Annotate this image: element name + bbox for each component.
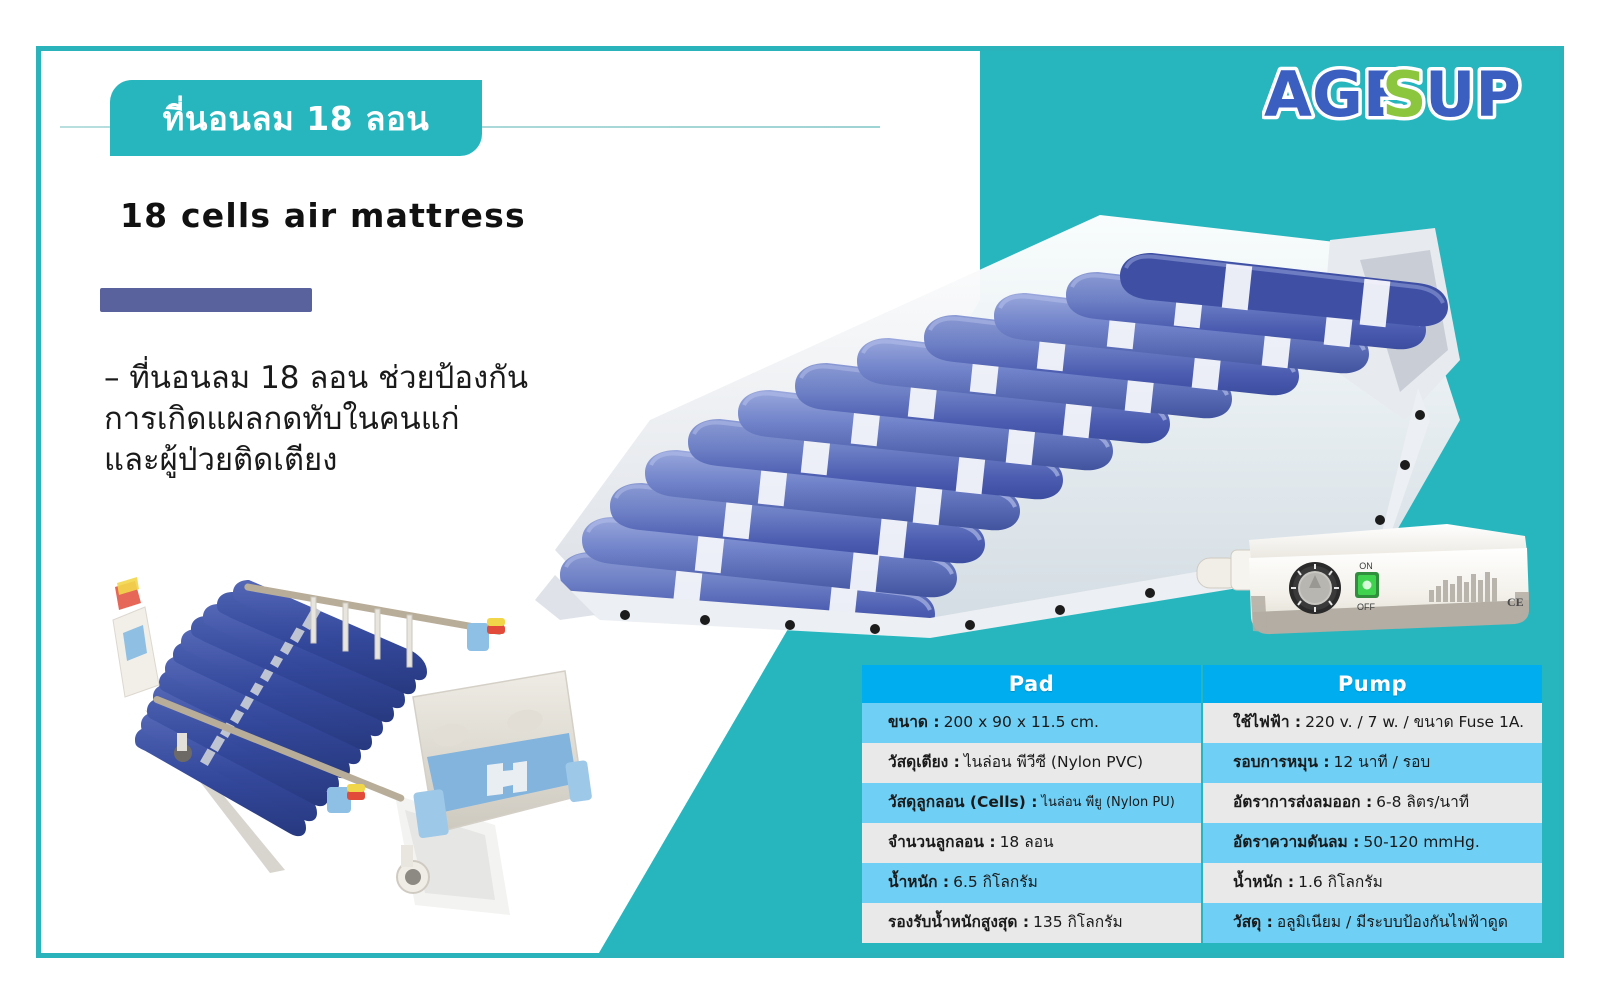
page-title-badge: ที่นอนลม 18 ลอน [110,80,482,156]
spec-column-pad: Pad ขนาด : 200 x 90 x 11.5 cm. วัสดุเตีย… [862,665,1201,943]
spec-label: อัตราความดันลม : [1233,834,1359,852]
poster-canvas: ON OFF CE [0,0,1600,1000]
spec-label: วัสดุ : [1233,914,1273,932]
spec-label: น้ำหนัก : [888,874,949,892]
spec-value: ไนล่อน พีวีซี (Nylon PVC) [964,754,1143,772]
spec-value: 1.6 กิโลกรัม [1298,874,1383,892]
pump-off-label: OFF [1357,602,1375,612]
description-line-2: การเกิดแผลกดทับในคนแก่ [104,399,644,440]
spec-column-pump: Pump ใช้ไฟฟ้า : 220 v. / 7 w. / ขนาด Fus… [1203,665,1542,943]
pump-on-label: ON [1359,561,1373,571]
spec-label: ขนาด : [888,714,940,732]
page-subtitle: 18 cells air mattress [120,196,526,235]
spec-value: ไนล่อน พียู (Nylon PU) [1041,796,1174,811]
spec-value: 12 นาที / รอบ [1334,754,1431,772]
spec-label: จำนวนลูกลอน : [888,834,996,852]
table-row: วัสดุลูกลอน (Cells) : ไนล่อน พียู (Nylon… [862,783,1201,823]
brand-logo: AGE AGE S S UP UP [1262,58,1562,136]
hospital-bed-image [95,525,605,935]
description-line-1: – ที่นอนลม 18 ลอน ช่วยป้องกัน [104,358,644,399]
table-row: น้ำหนัก : 6.5 กิโลกรัม [862,863,1201,903]
spec-label: รองรับน้ำหนักสูงสุด : [888,914,1029,932]
spec-header-pump: Pump [1203,665,1542,703]
spec-value: 6-8 ลิตร/นาที [1376,794,1469,812]
spec-value: 6.5 กิโลกรัม [953,874,1038,892]
accent-bar [100,288,312,312]
table-row: อัตราความดันลม : 50-120 mmHg. [1203,823,1542,863]
spec-label: วัสดุลูกลอน (Cells) : [888,794,1037,812]
table-row: รอบการหมุน : 12 นาที / รอบ [1203,743,1542,783]
table-row: รองรับน้ำหนักสูงสุด : 135 กิโลกรัม [862,903,1201,943]
air-pump-device-image: ON OFF CE [1185,500,1545,640]
spec-value: 135 กิโลกรัม [1033,914,1123,932]
spec-label: ใช้ไฟฟ้า : [1233,714,1301,732]
page-title-text: ที่นอนลม 18 ลอน [163,92,430,145]
spec-value: 50-120 mmHg. [1363,834,1479,852]
product-description: – ที่นอนลม 18 ลอน ช่วยป้องกัน การเกิดแผล… [104,358,644,481]
table-row: ใช้ไฟฟ้า : 220 v. / 7 w. / ขนาด Fuse 1A. [1203,703,1542,743]
spec-label: น้ำหนัก : [1233,874,1294,892]
spec-label: อัตราการส่งลมออก : [1233,794,1372,812]
spec-value: 18 ลอน [1000,834,1054,852]
specifications-table: Pad ขนาด : 200 x 90 x 11.5 cm. วัสดุเตีย… [862,665,1542,943]
spec-value: 200 x 90 x 11.5 cm. [944,714,1099,732]
ce-mark-label: CE [1507,595,1524,609]
table-row: อัตราการส่งลมออก : 6-8 ลิตร/นาที [1203,783,1542,823]
table-row: จำนวนลูกลอน : 18 ลอน [862,823,1201,863]
spec-value: อลูมิเนียม / มีระบบป้องกันไฟฟ้าดูด [1277,914,1508,932]
table-row: น้ำหนัก : 1.6 กิโลกรัม [1203,863,1542,903]
table-row: วัสดุเตียง : ไนล่อน พีวีซี (Nylon PVC) [862,743,1201,783]
spec-label: รอบการหมุน : [1233,754,1330,772]
spec-label: วัสดุเตียง : [888,754,960,772]
spec-value: 220 v. / 7 w. / ขนาด Fuse 1A. [1305,714,1524,732]
logo-text-s: S [1382,58,1427,131]
table-row: วัสดุ : อลูมิเนียม / มีระบบป้องกันไฟฟ้าด… [1203,903,1542,943]
logo-text-up: UP [1425,58,1521,131]
description-line-3: และผู้ป่วยติดเตียง [104,440,644,481]
spec-header-pad: Pad [862,665,1201,703]
table-row: ขนาด : 200 x 90 x 11.5 cm. [862,703,1201,743]
